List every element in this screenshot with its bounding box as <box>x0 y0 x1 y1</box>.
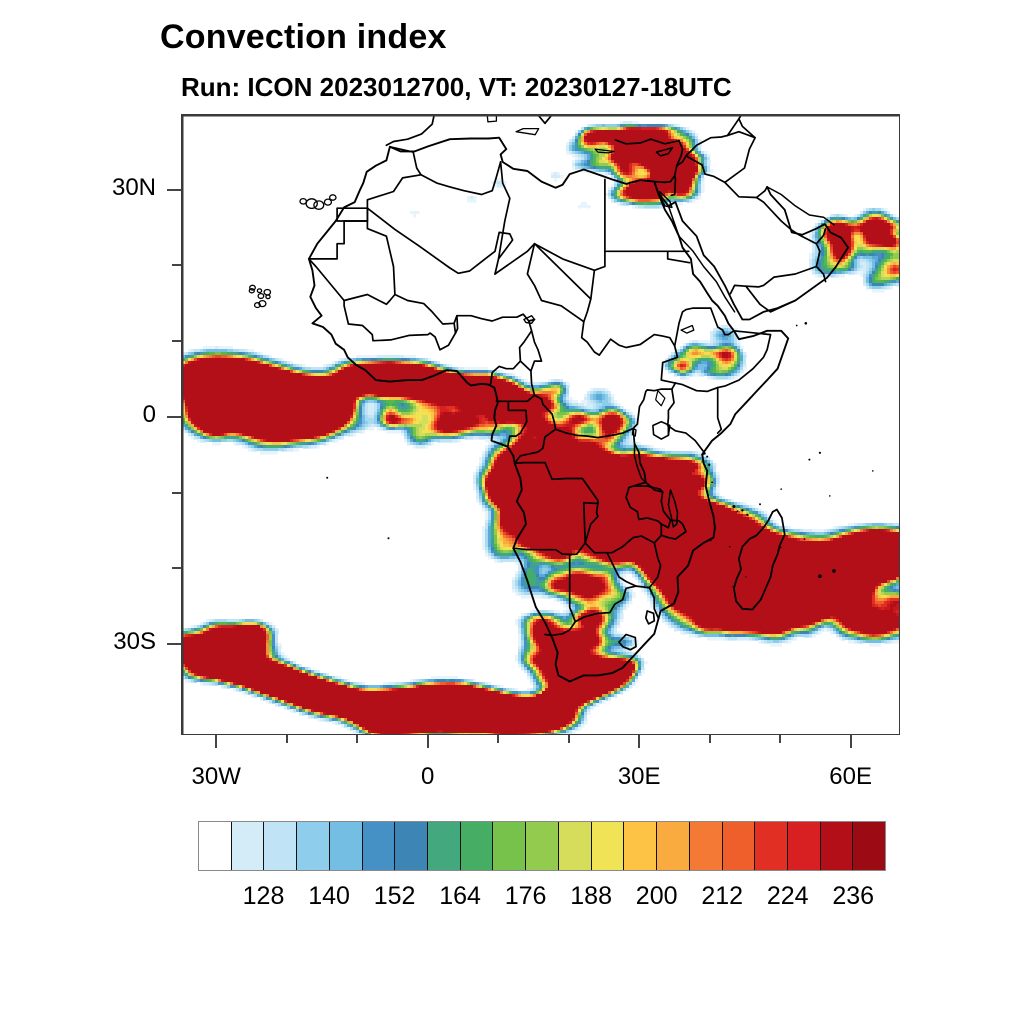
x-axis-label: 0 <box>368 763 488 791</box>
x-tick-minor <box>709 735 711 743</box>
national-border <box>344 301 455 350</box>
island-marker <box>872 470 874 472</box>
national-border <box>718 388 722 434</box>
national-border <box>582 270 678 383</box>
island-marker <box>732 505 735 508</box>
national-border <box>535 244 591 299</box>
x-tick-minor <box>779 735 781 743</box>
colorbar-cell <box>526 822 559 870</box>
colorbar-cell <box>755 822 788 870</box>
colorbar-cell <box>461 822 494 870</box>
x-tick-major <box>638 735 640 748</box>
colorbar-tick-label: 236 <box>803 882 903 911</box>
island-outline <box>258 294 264 299</box>
map-canvas <box>182 115 900 735</box>
y-tick-major <box>167 189 181 191</box>
colorbar-cell <box>199 822 232 870</box>
colorbar-cell <box>657 822 690 870</box>
colorbar-cell <box>723 822 756 870</box>
island-marker <box>829 495 831 497</box>
island-marker <box>710 540 712 542</box>
y-tick-minor <box>172 264 181 266</box>
colorbar-cell <box>624 822 657 870</box>
national-border <box>725 132 755 183</box>
colorbar-cell <box>428 822 461 870</box>
national-border <box>395 295 535 325</box>
island-marker <box>729 546 730 547</box>
x-tick-minor <box>568 735 570 743</box>
colorbar-cell <box>821 822 854 870</box>
island-marker <box>732 586 734 588</box>
colorbar-cell <box>330 822 363 870</box>
colorbar-cell <box>395 822 428 870</box>
y-tick-minor <box>172 492 181 494</box>
lake-kyoga <box>656 391 665 406</box>
island-marker <box>746 514 748 516</box>
colorbar-cell <box>493 822 526 870</box>
national-border <box>367 208 512 274</box>
coastline-red-sea-east <box>668 206 734 312</box>
island-outline <box>266 295 270 299</box>
island-marker <box>708 464 710 466</box>
colorbar-cell <box>297 822 330 870</box>
island-outline <box>306 199 317 209</box>
island-marker <box>741 509 743 511</box>
island-marker <box>808 459 810 461</box>
x-axis-label: 30E <box>579 763 699 791</box>
x-tick-major <box>850 735 852 748</box>
figure-root: Convection index Run: ICON 2023012700, V… <box>0 0 1024 1024</box>
colorbar-cell <box>264 822 297 870</box>
national-border <box>730 198 820 294</box>
x-axis-label: 30W <box>156 763 276 791</box>
national-border <box>520 361 531 371</box>
island-marker <box>804 538 806 540</box>
island-marker <box>759 503 761 505</box>
y-axis-label: 30N <box>1 174 156 202</box>
island-marker <box>768 518 770 520</box>
x-tick-major <box>427 735 429 748</box>
convection-field <box>182 121 900 735</box>
y-tick-minor <box>172 567 181 569</box>
national-border <box>421 162 501 195</box>
island-marker <box>780 488 782 490</box>
island-marker <box>745 576 746 577</box>
x-tick-minor <box>497 735 499 743</box>
island-marker <box>832 569 836 573</box>
coastline-sicily <box>516 129 539 135</box>
colorbar-cell <box>788 822 821 870</box>
x-tick-minor <box>286 735 288 743</box>
y-tick-minor <box>172 340 181 342</box>
x-tick-minor <box>356 735 358 743</box>
island-marker <box>754 536 755 537</box>
colorbar-cell <box>232 822 265 870</box>
island-outline <box>264 290 270 295</box>
national-border <box>746 286 795 312</box>
island-outline <box>300 199 306 204</box>
island-marker <box>326 477 328 479</box>
colorbar[interactable] <box>198 821 886 871</box>
page-subtitle: Run: ICON 2023012700, VT: 20230127-18UTC <box>181 72 732 103</box>
map-panel[interactable] <box>181 114 900 735</box>
colorbar-cell <box>363 822 396 870</box>
island-marker <box>706 456 708 458</box>
y-axis-label: 0 <box>1 401 156 429</box>
island-marker <box>737 510 739 512</box>
colorbar-cell <box>559 822 592 870</box>
colorbar-cell <box>690 822 723 870</box>
island-marker <box>711 481 713 483</box>
island-marker <box>805 322 808 325</box>
national-border <box>499 162 510 259</box>
island-marker <box>819 452 821 454</box>
page-title: Convection index <box>160 18 447 57</box>
island-outline <box>314 201 324 209</box>
x-axis-label: 60E <box>791 763 911 791</box>
y-tick-major <box>167 416 181 418</box>
national-border <box>309 208 395 304</box>
y-axis-label: 30S <box>1 628 156 656</box>
island-marker <box>388 537 390 539</box>
y-tick-major <box>167 643 181 645</box>
island-marker <box>780 547 782 549</box>
national-border <box>646 611 655 624</box>
colorbar-cell <box>853 822 885 870</box>
island-marker <box>818 574 822 578</box>
island-marker <box>796 325 798 327</box>
x-tick-major <box>215 735 217 748</box>
national-border <box>337 147 421 221</box>
island-outline <box>257 289 261 293</box>
island-outline <box>330 195 336 200</box>
lake-tana <box>681 326 694 334</box>
colorbar-cell <box>592 822 625 870</box>
